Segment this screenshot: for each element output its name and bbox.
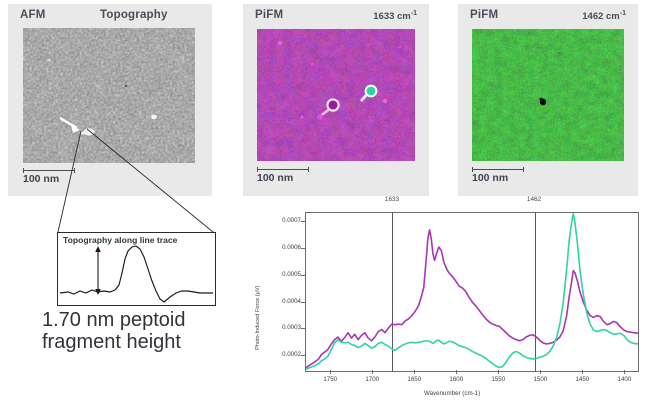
spectrum-y-tick-label: 0.0002 — [261, 351, 301, 358]
spectrum-x-tick-label: 1700 — [357, 376, 387, 383]
spectrum-x-tick-label: 1600 — [441, 376, 471, 383]
spectrum-y-tick-mark — [301, 275, 305, 276]
spectrum-x-tick-mark — [414, 370, 415, 374]
pifm-1633-grain-overlay — [257, 29, 415, 161]
peak-label-1462: 1462 — [514, 196, 554, 203]
panel-pifm-1462-title: PiFM — [470, 9, 498, 21]
spectrum-x-tick-label: 1450 — [567, 376, 597, 383]
pifm-1633-scalebar-label: 100 nm — [257, 172, 293, 184]
spectrum-x-tick-mark — [456, 370, 457, 374]
panel-afm: AFM Topography — [8, 4, 212, 196]
panel-pifm-1633: PiFM 1633 cm-1 — [243, 4, 429, 196]
spectrum-x-tick-label: 1550 — [483, 376, 513, 383]
panel-pifm-1633-title: PiFM — [255, 9, 283, 21]
spectrum-y-tick-mark — [301, 221, 305, 222]
spectrum-chart: Photo-Induced Force (μV) 1633 1462 0.000… — [252, 196, 642, 407]
fragment-height-line1: 1.70 nm peptoid — [42, 310, 185, 332]
spectrum-x-tick-mark — [624, 370, 625, 374]
pifm-1462-scalebar-line — [472, 169, 524, 170]
spectrum-y-tick-label: 0.0006 — [261, 244, 301, 251]
pifm-1633-image — [257, 29, 415, 161]
spectrum-trace-teal — [306, 214, 638, 369]
linetrace-inset: Topography along line trace — [57, 232, 216, 306]
spectrum-x-tick-label: 1750 — [315, 376, 345, 383]
spectrum-y-tick-label: 0.0007 — [261, 217, 301, 224]
spectrum-y-axis-label: Photo-Induced Force (μV) — [255, 286, 261, 350]
wavenumber-exponent: -1 — [620, 10, 626, 17]
spectrum-x-tick-label: 1500 — [525, 376, 555, 383]
spectrum-traces — [306, 213, 638, 371]
afm-scalebar-label: 100 nm — [23, 173, 59, 185]
pifm-1633-scalebar-line — [257, 169, 309, 170]
panel-pifm-1462: PiFM 1462 cm-1 100 nm — [458, 4, 638, 196]
spectrum-x-tick-label: 1400 — [609, 376, 639, 383]
spectrum-x-tick-mark — [498, 370, 499, 374]
fragment-height-caption: 1.70 nm peptoid fragment height — [42, 310, 185, 353]
wavenumber-exponent: -1 — [411, 10, 417, 17]
spectrum-x-axis-label: Wavenumber (cm-1) — [424, 390, 480, 397]
spectrum-x-tick-mark — [582, 370, 583, 374]
spectrum-y-tick-label: 0.0003 — [261, 324, 301, 331]
afm-scalebar-line — [23, 170, 75, 171]
panel-pifm-1462-wavenumber: 1462 cm-1 — [582, 10, 626, 22]
spectrum-y-tick-label: 0.0005 — [261, 271, 301, 278]
afm-image — [23, 28, 195, 163]
pifm-1462-scalebar-label: 100 nm — [472, 172, 508, 184]
linetrace-caption: Topography along line trace — [63, 235, 177, 245]
wavenumber-value: 1633 cm — [373, 11, 411, 22]
panel-afm-title: AFM — [20, 9, 46, 21]
afm-grain-overlay — [23, 28, 195, 163]
peak-label-1462-text: 1462 — [527, 196, 541, 203]
spectrum-plot-frame — [305, 212, 639, 372]
fragment-height-line2: fragment height — [42, 332, 185, 354]
spectrum-x-tick-mark — [372, 370, 373, 374]
pifm-1462-image — [472, 29, 624, 161]
spectrum-y-tick-mark — [301, 302, 305, 303]
panel-afm-channel: Topography — [100, 9, 168, 21]
peak-label-1633: 1633 — [372, 196, 412, 203]
spectrum-y-tick-label: 0.0004 — [261, 298, 301, 305]
spectrum-y-tick-mark — [301, 328, 305, 329]
spectrum-y-tick-mark — [301, 248, 305, 249]
spectrum-y-tick-mark — [301, 355, 305, 356]
panel-pifm-1633-wavenumber: 1633 cm-1 — [373, 10, 417, 22]
spectrum-x-tick-label: 1650 — [399, 376, 429, 383]
pifm-1462-grain-overlay — [472, 29, 624, 161]
wavenumber-value: 1462 cm — [582, 11, 620, 22]
peak-label-1633-text: 1633 — [385, 196, 399, 203]
spectrum-x-tick-mark — [540, 370, 541, 374]
spectrum-x-tick-mark — [330, 370, 331, 374]
